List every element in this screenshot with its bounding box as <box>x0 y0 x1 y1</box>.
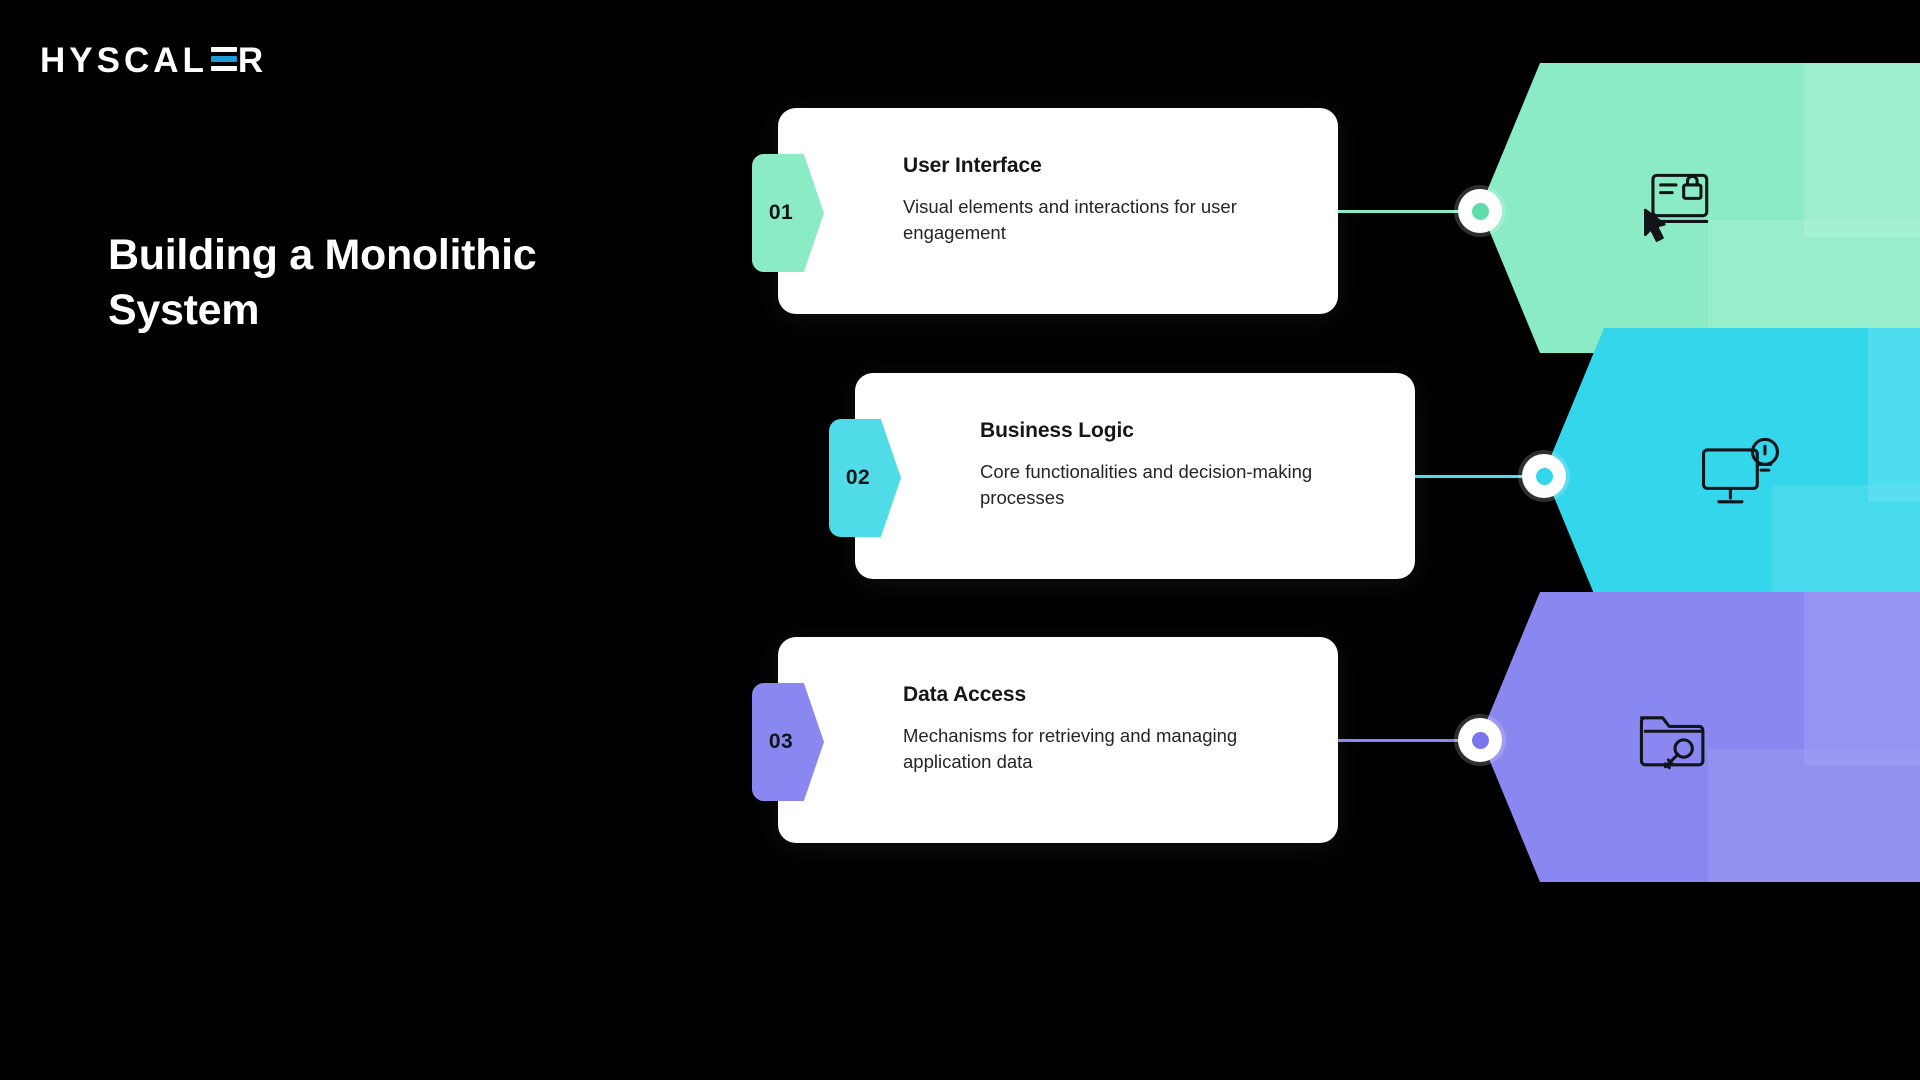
step-1-node-inner-dot <box>1472 203 1489 220</box>
step-1-description: Visual elements and interactions for use… <box>903 194 1273 247</box>
step-2-number: 02 <box>846 466 870 490</box>
step-1-number: 01 <box>769 201 793 225</box>
step-3-node-inner-dot <box>1472 732 1489 749</box>
folder-key-icon <box>1628 689 1724 785</box>
step-3-description: Mechanisms for retrieving and managing a… <box>903 723 1273 776</box>
step-2-card-body: Business Logic Core functionalities and … <box>855 373 1415 512</box>
step-2-description: Core functionalities and decision-making… <box>980 459 1350 512</box>
step-2-panel-facet-top <box>1868 328 1920 502</box>
step-1-panel <box>1480 63 1920 353</box>
brand-name-part2: R <box>238 43 267 78</box>
infographic-canvas: HYSCAL R Building a Monolithic System <box>0 0 1920 1080</box>
logo-e-bar-middle-accent <box>211 56 237 62</box>
page-title: Building a Monolithic System <box>108 228 628 338</box>
step-1-connector-node <box>1458 189 1502 233</box>
step-3-card-body: Data Access Mechanisms for retrieving an… <box>778 637 1338 776</box>
step-3-panel-facet-top <box>1804 592 1920 766</box>
step-2-panel <box>1544 328 1920 618</box>
step-1-title: User Interface <box>903 154 1298 178</box>
step-1-card-body: User Interface Visual elements and inter… <box>778 108 1338 247</box>
brand-name-part1: HYSCAL <box>40 43 208 78</box>
step-2-card[interactable]: Business Logic Core functionalities and … <box>855 373 1415 579</box>
step-3-title: Data Access <box>903 683 1298 707</box>
step-3-panel-facet-bottom <box>1708 749 1920 882</box>
monitor-lightbulb-icon <box>1692 425 1788 521</box>
brand-logo: HYSCAL R <box>40 40 267 80</box>
logo-e-bar-top <box>211 47 237 52</box>
brand-wordmark: HYSCAL R <box>40 43 267 78</box>
logo-e-bar-bottom <box>211 66 237 71</box>
logo-e-glyph-icon <box>211 45 237 75</box>
step-3-connector-node <box>1458 718 1502 762</box>
cursor-screen-lock-icon <box>1628 160 1724 256</box>
step-3-panel <box>1480 592 1920 882</box>
step-1-card[interactable]: User Interface Visual elements and inter… <box>778 108 1338 314</box>
step-2-title: Business Logic <box>980 419 1375 443</box>
step-3-card[interactable]: Data Access Mechanisms for retrieving an… <box>778 637 1338 843</box>
step-1-panel-facet-top <box>1804 63 1920 237</box>
step-2-connector-node <box>1522 454 1566 498</box>
step-3-number: 03 <box>769 730 793 754</box>
step-2-node-inner-dot <box>1536 468 1553 485</box>
